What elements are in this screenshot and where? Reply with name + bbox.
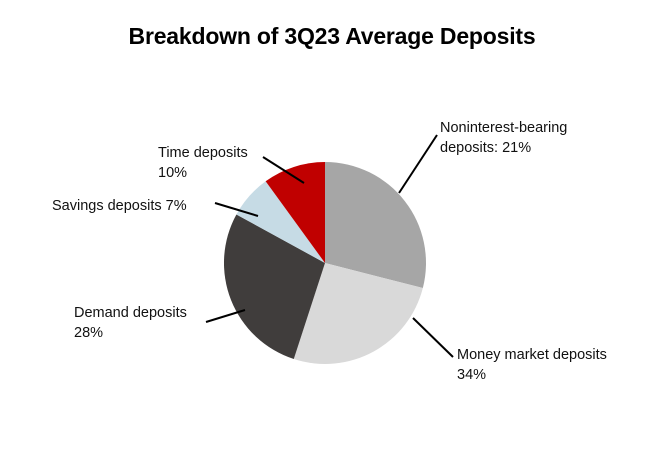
- slice-label-demand-line1: Demand deposits: [74, 305, 187, 321]
- slice-label-noninterest-bearing: Noninterest-bearing deposits: 21%: [440, 118, 567, 158]
- slice-label-noninterest-bearing-line1: Noninterest-bearing: [440, 120, 567, 136]
- slice-label-savings: Savings deposits 7%: [52, 196, 187, 216]
- slice-label-demand: Demand deposits 28%: [74, 303, 187, 343]
- slice-label-money-market-line2: 34%: [457, 365, 607, 385]
- leader-line-money-market: [413, 318, 453, 357]
- leader-line-noninterest-bearing: [399, 135, 437, 193]
- slice-label-demand-line2: 28%: [74, 323, 187, 343]
- slice-label-time: Time deposits 10%: [158, 143, 248, 183]
- pie-chart-figure: Breakdown of 3Q23 Average Deposits Nonin…: [0, 0, 664, 466]
- slice-label-noninterest-bearing-line2: deposits: 21%: [440, 138, 567, 158]
- slice-label-time-line2: 10%: [158, 163, 248, 183]
- slice-label-savings-line1: Savings deposits 7%: [52, 198, 187, 214]
- pie-chart-graphic: [0, 0, 664, 466]
- slice-label-money-market-line1: Money market deposits: [457, 347, 607, 363]
- slice-label-time-line1: Time deposits: [158, 145, 248, 161]
- slice-label-money-market: Money market deposits 34%: [457, 345, 607, 385]
